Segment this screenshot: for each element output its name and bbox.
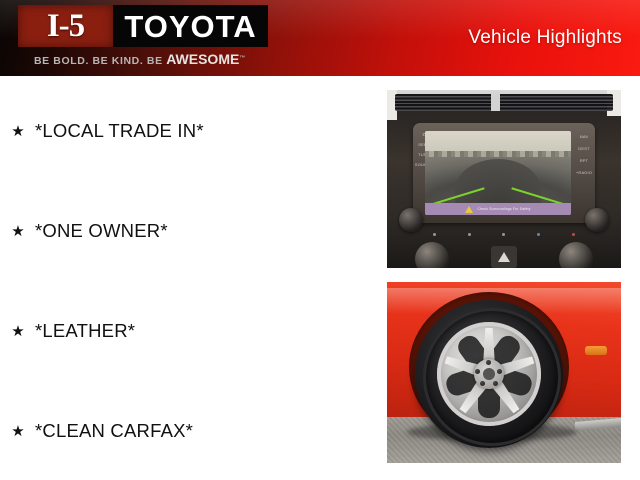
control-indicator [468, 233, 471, 236]
highlight-label: *CLEAN CARFAX* [35, 420, 193, 442]
lug-nut [486, 360, 491, 365]
backup-camera-screen: Check Surroundings For Safety [425, 131, 571, 215]
list-item: ★ *ONE OWNER* [10, 218, 168, 244]
star-bullet-icon: ★ [10, 324, 26, 339]
hazard-triangle-icon [498, 252, 510, 262]
nav-button[interactable]: NAV [580, 135, 589, 139]
list-item: ★ *LOCAL TRADE IN* [10, 118, 204, 144]
header-bar: I-5 TOYOTA BE BOLD. BE KIND. BE AWESOME™… [0, 0, 640, 76]
logo-i5-badge: I-5 [18, 5, 113, 47]
dealer-logo[interactable]: I-5 TOYOTA BE BOLD. BE KIND. BE AWESOME™ [18, 5, 276, 73]
tagline-lead: BE BOLD. BE KIND. BE [34, 55, 166, 67]
lug-nut [475, 369, 480, 374]
center-cap [483, 368, 495, 380]
rpt-button[interactable]: RPT [580, 159, 589, 163]
volume-knob[interactable] [399, 208, 423, 232]
camera-warning-text: Check Surroundings For Safety [477, 207, 530, 211]
highlights-list: ★ *LOCAL TRADE IN* ★ *ONE OWNER* ★ *LEAT… [0, 76, 380, 480]
climate-control-row [417, 230, 591, 238]
camera-warning-banner: Check Surroundings For Safety [425, 203, 571, 215]
dealer-tagline: BE BOLD. BE KIND. BE AWESOME™ [34, 51, 284, 67]
star-bullet-icon: ★ [10, 424, 26, 439]
side-marker-light [585, 346, 607, 355]
dest-button[interactable]: DEST [578, 147, 589, 151]
warning-triangle-icon [465, 206, 473, 213]
vent-divider [491, 94, 500, 111]
control-indicator-cool [537, 233, 540, 236]
logo-i5-text: I-5 [47, 10, 84, 43]
highlight-label: *ONE OWNER* [35, 220, 168, 242]
page-title: Vehicle Highlights [468, 0, 622, 76]
wheel-photo[interactable] [387, 282, 621, 463]
head-unit-bezel: ✆ SEEK TUNE SOURCE Check Surroundings Fo… [413, 123, 595, 223]
logo-toyota-text: TOYOTA [124, 11, 256, 42]
alloy-wheel-rim [437, 322, 541, 426]
climate-knob-right[interactable] [559, 242, 593, 268]
hazard-light-button[interactable] [491, 246, 517, 268]
control-indicator [433, 233, 436, 236]
tagline-emphasis: AWESOME [166, 51, 239, 67]
logo-lockup: I-5 TOYOTA [18, 5, 268, 47]
dashboard-vents [395, 94, 613, 111]
logo-toyota-badge: TOYOTA [113, 5, 268, 47]
control-indicator-heat [572, 233, 575, 236]
list-item: ★ *LEATHER* [10, 318, 135, 344]
tire [415, 300, 563, 448]
radio-button[interactable]: +RADIO [576, 171, 592, 175]
lug-nut [480, 381, 485, 386]
infotainment-backup-camera-photo[interactable]: ✆ SEEK TUNE SOURCE Check Surroundings Fo… [387, 90, 621, 268]
trademark-symbol: ™ [239, 56, 246, 62]
climate-knob-left[interactable] [415, 242, 449, 268]
control-indicator [502, 233, 505, 236]
highlight-label: *LOCAL TRADE IN* [35, 120, 204, 142]
star-bullet-icon: ★ [10, 224, 26, 239]
list-item: ★ *CLEAN CARFAX* [10, 418, 193, 444]
highlight-label: *LEATHER* [35, 320, 135, 342]
vehicle-highlights-slide: I-5 TOYOTA BE BOLD. BE KIND. BE AWESOME™… [0, 0, 640, 480]
tune-knob[interactable] [585, 208, 609, 232]
lug-nut [493, 381, 498, 386]
star-bullet-icon: ★ [10, 124, 26, 139]
lug-nut [497, 369, 502, 374]
